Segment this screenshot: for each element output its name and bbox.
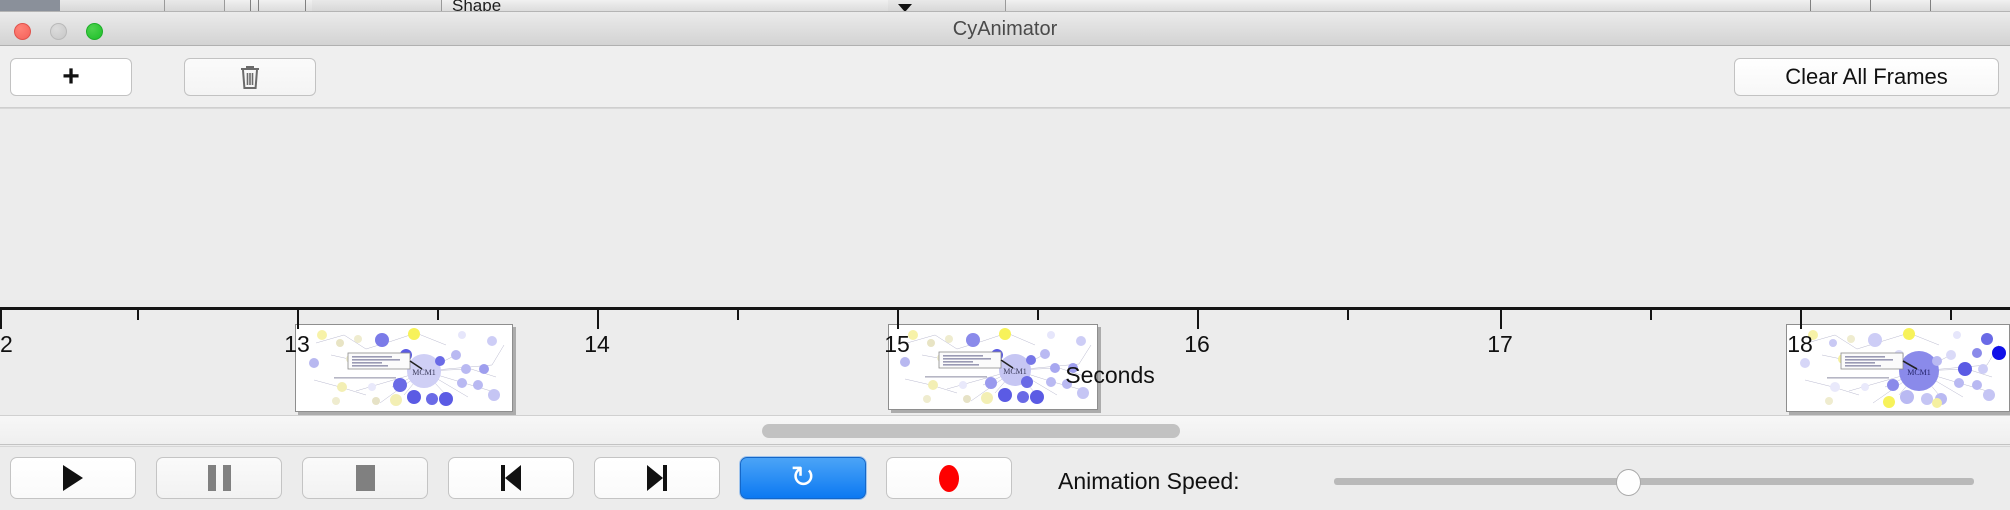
loop-icon: ↻ bbox=[790, 463, 815, 493]
timeline-tick-label: 14 bbox=[584, 331, 610, 358]
clear-all-frames-button[interactable]: Clear All Frames bbox=[1734, 58, 1999, 96]
timeline-scrollbar-thumb[interactable] bbox=[762, 424, 1180, 438]
timeline-tick-label: 13 bbox=[284, 331, 310, 358]
background-window-selected-tab bbox=[0, 0, 60, 12]
background-window-strip: Shape bbox=[0, 0, 2010, 12]
animation-speed-slider[interactable] bbox=[1334, 478, 1974, 485]
background-window-label: Shape bbox=[452, 0, 501, 12]
timeline-tick-label: 17 bbox=[1487, 331, 1513, 358]
transport-bar: ↻ Animation Speed: bbox=[0, 446, 2010, 510]
background-divider bbox=[305, 0, 306, 12]
timeline-minor-tick bbox=[137, 310, 139, 320]
timeline-tick-label: 12 bbox=[0, 331, 13, 358]
timeline-major-tick bbox=[0, 310, 2, 329]
background-cursor-arrow-icon bbox=[898, 4, 912, 12]
delete-frame-button[interactable] bbox=[184, 58, 316, 96]
play-button[interactable] bbox=[10, 457, 136, 499]
loop-button[interactable]: ↻ bbox=[740, 457, 866, 499]
background-chip bbox=[312, 0, 442, 12]
timeline-minor-tick bbox=[1347, 310, 1349, 320]
trash-icon bbox=[238, 64, 262, 90]
window-title: CyAnimator bbox=[0, 12, 2010, 46]
play-icon bbox=[63, 465, 83, 491]
previous-frame-button[interactable] bbox=[448, 457, 574, 499]
timeline-scrollbar[interactable] bbox=[0, 415, 2010, 445]
record-button[interactable] bbox=[886, 457, 1012, 499]
timeline-minor-tick bbox=[1950, 310, 1952, 320]
timeline-major-tick bbox=[1800, 310, 1802, 329]
background-divider bbox=[258, 0, 259, 12]
axis-title-text: Seconds bbox=[1065, 362, 1155, 388]
timeline-axis-line bbox=[0, 307, 2010, 310]
stop-button[interactable] bbox=[302, 457, 428, 499]
title-bar: CyAnimator bbox=[0, 12, 2010, 46]
timeline-tick-label: 15 bbox=[884, 331, 910, 358]
timeline-panel[interactable]: MCM1 bbox=[0, 108, 2010, 415]
timeline-major-tick bbox=[897, 310, 899, 329]
cyanimator-window: Shape CyAnimator + Clear All Frames bbox=[0, 0, 2010, 510]
timeline-minor-tick bbox=[737, 310, 739, 320]
record-icon bbox=[939, 465, 959, 492]
stop-icon bbox=[356, 465, 375, 491]
background-divider bbox=[250, 0, 251, 12]
timeline-minor-tick bbox=[1037, 310, 1039, 320]
background-chip bbox=[60, 0, 165, 12]
skip-forward-icon bbox=[647, 465, 667, 491]
timeline-major-tick bbox=[297, 310, 299, 329]
animation-speed-slider-thumb[interactable] bbox=[1616, 469, 1641, 496]
background-divider bbox=[1870, 0, 1871, 12]
timeline-tick-label: 18 bbox=[1787, 331, 1813, 358]
plus-icon: + bbox=[62, 62, 80, 92]
timeline-tick-label: 16 bbox=[1184, 331, 1210, 358]
add-frame-button[interactable]: + bbox=[10, 58, 132, 96]
background-divider bbox=[1810, 0, 1811, 12]
next-frame-button[interactable] bbox=[594, 457, 720, 499]
background-divider bbox=[1930, 0, 1931, 12]
timeline-minor-tick bbox=[1650, 310, 1652, 320]
toolbar: + Clear All Frames bbox=[0, 46, 2010, 108]
timeline-minor-tick bbox=[437, 310, 439, 320]
pause-icon bbox=[208, 465, 231, 491]
pause-button[interactable] bbox=[156, 457, 282, 499]
timeline-major-tick bbox=[1500, 310, 1502, 329]
clear-all-frames-label: Clear All Frames bbox=[1785, 64, 1948, 90]
skip-back-icon bbox=[501, 465, 521, 491]
animation-speed-label: Animation Speed: bbox=[1058, 468, 1240, 495]
timeline-major-tick bbox=[597, 310, 599, 329]
background-chip bbox=[165, 0, 225, 12]
timeline-axis-title: Seconds bbox=[0, 362, 2010, 389]
timeline-major-tick bbox=[1197, 310, 1199, 329]
